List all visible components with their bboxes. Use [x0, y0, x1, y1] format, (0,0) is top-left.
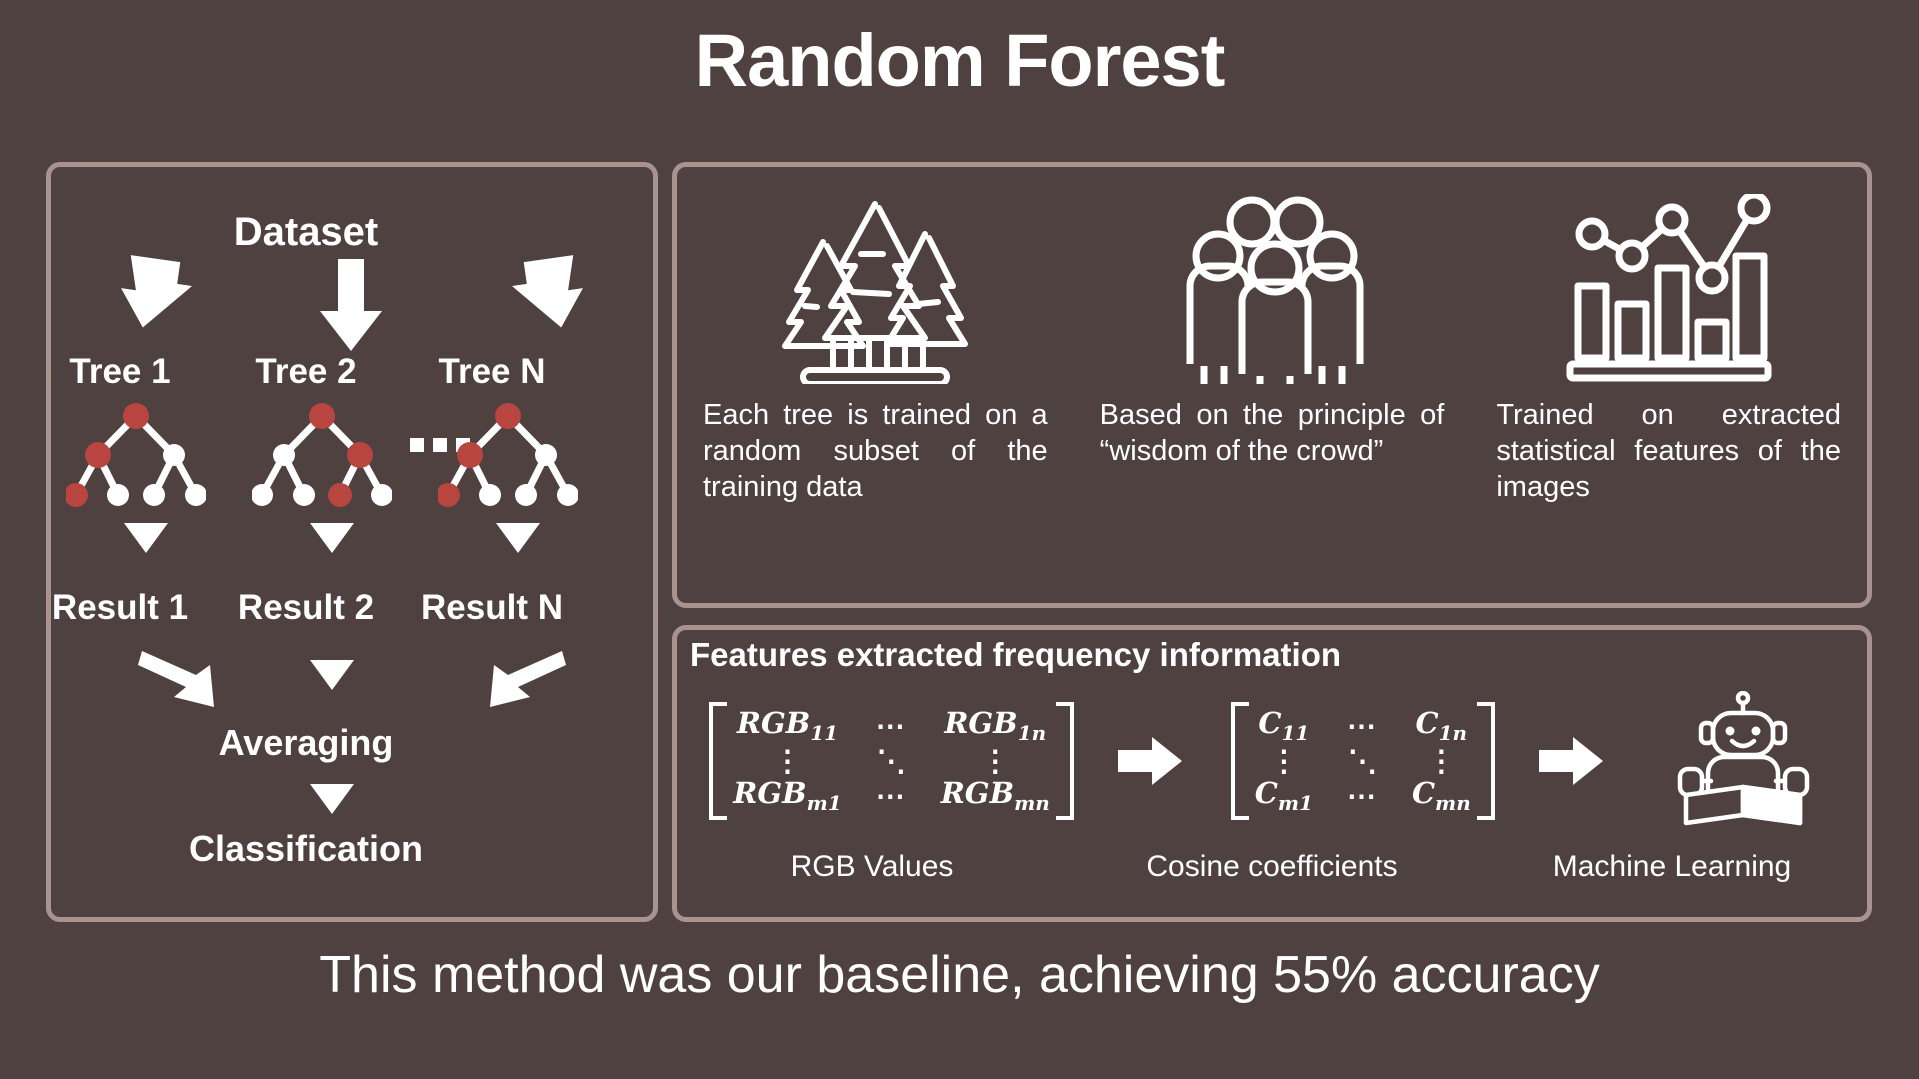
rgb-col1-dots: ⋮: [773, 746, 802, 776]
ellipsis-dot: [410, 438, 424, 452]
cos-col1-dots: ⋮: [1269, 746, 1298, 776]
classification-label: Classification: [0, 828, 612, 870]
page-title: Random Forest: [0, 22, 1919, 100]
rgb-cell-mn: RGBmn: [941, 778, 1050, 814]
property-column-2: Based on the principle of “wisdom of the…: [1074, 167, 1471, 603]
tree-label-2: Tree 2: [206, 352, 406, 392]
cos-diag-dots: ⋱: [1348, 746, 1377, 776]
caption-machine-learning: Machine Learning: [1474, 850, 1870, 884]
random-forest-properties-panel: Each tree is trained on a random subset …: [672, 162, 1872, 608]
crowd-people-icon: [1172, 189, 1372, 384]
classification-down-triangle: [310, 784, 354, 814]
cos-coln-dots: ⋮: [1427, 746, 1456, 776]
robot-reading-book-icon: [1656, 691, 1831, 831]
features-heading: Features extracted frequency information: [690, 636, 1341, 674]
cos-cell-m1: Cm1: [1255, 778, 1313, 814]
footer-note: This method was our baseline, achieving …: [0, 945, 1919, 1005]
result-label-3: Result N: [392, 588, 592, 628]
decision-tree-graph-1: [66, 400, 206, 512]
cos-row1-dots: ⋯: [1347, 711, 1378, 741]
property-caption-1: Each tree is trained on a random subset …: [703, 398, 1048, 506]
rgb-cell-11: RGB11: [737, 708, 838, 744]
property-column-3: Trained on extracted statistical feature…: [1470, 167, 1867, 603]
cos-cell-11: C11: [1258, 708, 1309, 744]
rgb-cell-m1: RGBm1: [733, 778, 841, 814]
slide-root: Random Forest Dataset Tree 1 Tree 2 Tree…: [0, 0, 1919, 1079]
rgb-rowm-dots: ⋯: [876, 781, 907, 811]
cosine-matrix: C11 ⋯ C1n ⋮ ⋱ ⋮ Cm1 ⋯ Cmn: [1235, 702, 1491, 820]
caption-cosine-coefficients: Cosine coefficients: [1074, 850, 1470, 884]
decision-tree-graph-2: [252, 400, 392, 512]
pipeline-captions: RGB Values Cosine coefficients Machine L…: [672, 845, 1872, 889]
rgb-matrix: RGB11 ⋯ RGB1n ⋮ ⋱ ⋮ RGBm1 ⋯ RGBmn: [713, 702, 1070, 820]
tree-2-down-triangle: [310, 523, 354, 553]
property-caption-2: Based on the principle of “wisdom of the…: [1100, 398, 1445, 470]
result-label-2: Result 2: [206, 588, 406, 628]
cos-cell-mn: Cmn: [1412, 778, 1471, 814]
averaging-down-triangle: [310, 660, 354, 690]
tree-1-down-triangle: [124, 523, 168, 553]
rgb-diag-dots: ⋱: [877, 746, 906, 776]
cos-cell-1n: C1n: [1416, 708, 1468, 744]
feature-pipeline: RGB11 ⋯ RGB1n ⋮ ⋱ ⋮ RGBm1 ⋯ RGBmn C11 ⋯ …: [672, 686, 1872, 836]
rgb-row1-dots: ⋯: [876, 711, 907, 741]
tree-label-1: Tree 1: [20, 352, 220, 392]
rgb-cell-1n: RGB1n: [944, 708, 1046, 744]
caption-rgb-values: RGB Values: [674, 850, 1070, 884]
bar-line-chart-icon: [1564, 189, 1774, 384]
decision-tree-graph-n: [438, 400, 578, 512]
property-caption-3: Trained on extracted statistical feature…: [1496, 398, 1841, 506]
cos-rowm-dots: ⋯: [1347, 781, 1378, 811]
tree-label-3: Tree N: [392, 352, 592, 392]
property-column-1: Each tree is trained on a random subset …: [677, 167, 1074, 603]
dataset-label: Dataset: [0, 210, 612, 255]
tree-n-down-triangle: [496, 523, 540, 553]
rgb-coln-dots: ⋮: [981, 746, 1010, 776]
result-label-1: Result 1: [20, 588, 220, 628]
forest-trees-icon: [775, 189, 975, 384]
averaging-label: Averaging: [0, 722, 612, 764]
